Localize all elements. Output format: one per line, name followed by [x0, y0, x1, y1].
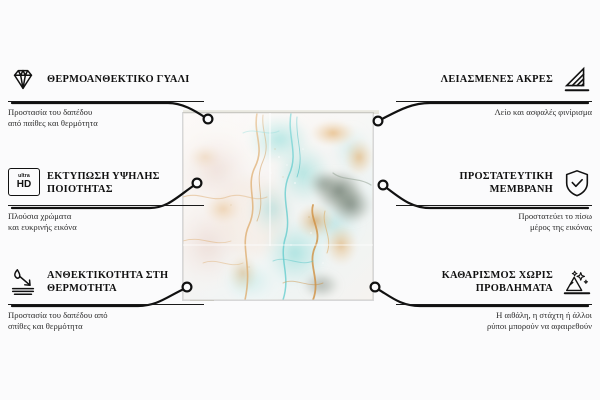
feature-body: Προστασία του δαπέδου από σπίθες και θερ… — [8, 310, 204, 333]
ink-artwork — [183, 113, 373, 300]
diamond-icon — [8, 64, 38, 94]
feature-body: Προστασία του δαπέδου από παίθες και θερ… — [8, 107, 204, 130]
feature-header: ΚΑΘΑΡΙΣΜΟΣ ΧΩΡΙΣ ΠΡΟΒΛΗΜΑΤΑ — [396, 265, 592, 299]
feature-polished-edges: ΛΕΙΑΣΜΕΝΕΣ ΑΚΡΕΣ Λείο και ασφαλές φινίρι… — [396, 62, 592, 118]
feature-divider — [8, 304, 204, 305]
feature-title: ΚΑΘΑΡΙΣΜΟΣ ΧΩΡΙΣ ΠΡΟΒΛΗΜΑΤΑ — [396, 269, 553, 295]
feature-divider — [8, 205, 204, 206]
connector-dot-right-2 — [379, 181, 388, 190]
ultra-hd-label-bottom: HD — [17, 180, 31, 190]
marble-ink-svg — [183, 113, 373, 300]
feature-heat-durability: ΑΝΘΕΚΤΙΚΟΤΗΤΑ ΣΤΗ ΘΕΡΜΟΤΗΤΑ Προστασία το… — [8, 265, 204, 333]
feature-divider — [396, 101, 592, 102]
feature-heat-resistant-glass: ΘΕΡΜΟΑΝΘΕΚΤΙΚΟ ΓΥΑΛΙ Προστασία του δαπέδ… — [8, 62, 204, 130]
ultra-hd-badge: ultra HD — [8, 168, 40, 196]
feature-title: ΠΡΟΣΤΑΤΕΥΤΙΚΗ ΜΕΜΒΡΑΝΗ — [396, 170, 553, 196]
feature-title: ΕΚΤΥΠΩΣΗ ΥΨΗΛΗΣ ΠΟΙΟΤΗΤΑΣ — [47, 170, 204, 196]
feature-body: Πλούσια χρώματα και ευκρινής εικόνα — [8, 211, 204, 234]
feature-header: ΘΕΡΜΟΑΝΘΕΚΤΙΚΟ ΓΥΑΛΙ — [8, 62, 204, 96]
feature-title: ΘΕΡΜΟΑΝΘΕΚΤΙΚΟ ΓΥΑΛΙ — [47, 73, 190, 86]
feature-divider — [8, 101, 204, 102]
glass-panel — [183, 113, 373, 300]
feature-easy-cleaning: ΚΑΘΑΡΙΣΜΟΣ ΧΩΡΙΣ ΠΡΟΒΛΗΜΑΤΑ Η αιθάλη, η … — [396, 265, 592, 333]
flame-deflect-icon — [8, 267, 38, 297]
feature-divider — [396, 205, 592, 206]
feature-body: Προστατεύει το πίσω μέρος της εικόνας — [396, 211, 592, 234]
feature-divider — [396, 304, 592, 305]
feature-body: Η αιθάλη, η στάχτη ή άλλοι ρύποι μπορούν… — [396, 310, 592, 333]
feature-title: ΑΝΘΕΚΤΙΚΟΤΗΤΑ ΣΤΗ ΘΕΡΜΟΤΗΤΑ — [47, 269, 204, 295]
beveled-edge-icon — [562, 64, 592, 94]
feature-body: Λείο και ασφαλές φινίρισμα — [396, 107, 592, 118]
feature-header: ΑΝΘΕΚΤΙΚΟΤΗΤΑ ΣΤΗ ΘΕΡΜΟΤΗΤΑ — [8, 265, 204, 299]
cleaning-sparkle-icon — [562, 267, 592, 297]
shield-check-icon — [562, 168, 592, 198]
infographic-root: ΘΕΡΜΟΑΝΘΕΚΤΙΚΟ ΓΥΑΛΙ Προστασία του δαπέδ… — [0, 0, 600, 400]
feature-high-quality-print: ultra HD ΕΚΤΥΠΩΣΗ ΥΨΗΛΗΣ ΠΟΙΟΤΗΤΑΣ Πλούσ… — [8, 166, 204, 234]
connector-dot-right-1 — [374, 117, 383, 126]
ultra-hd-icon: ultra HD — [8, 168, 38, 198]
feature-protective-membrane: ΠΡΟΣΤΑΤΕΥΤΙΚΗ ΜΕΜΒΡΑΝΗ Προστατεύει το πί… — [396, 166, 592, 234]
product-image — [183, 113, 373, 300]
feature-header: ΠΡΟΣΤΑΤΕΥΤΙΚΗ ΜΕΜΒΡΑΝΗ — [396, 166, 592, 200]
feature-header: ΛΕΙΑΣΜΕΝΕΣ ΑΚΡΕΣ — [396, 62, 592, 96]
feature-title: ΛΕΙΑΣΜΕΝΕΣ ΑΚΡΕΣ — [441, 73, 553, 86]
feature-header: ultra HD ΕΚΤΥΠΩΣΗ ΥΨΗΛΗΣ ΠΟΙΟΤΗΤΑΣ — [8, 166, 204, 200]
